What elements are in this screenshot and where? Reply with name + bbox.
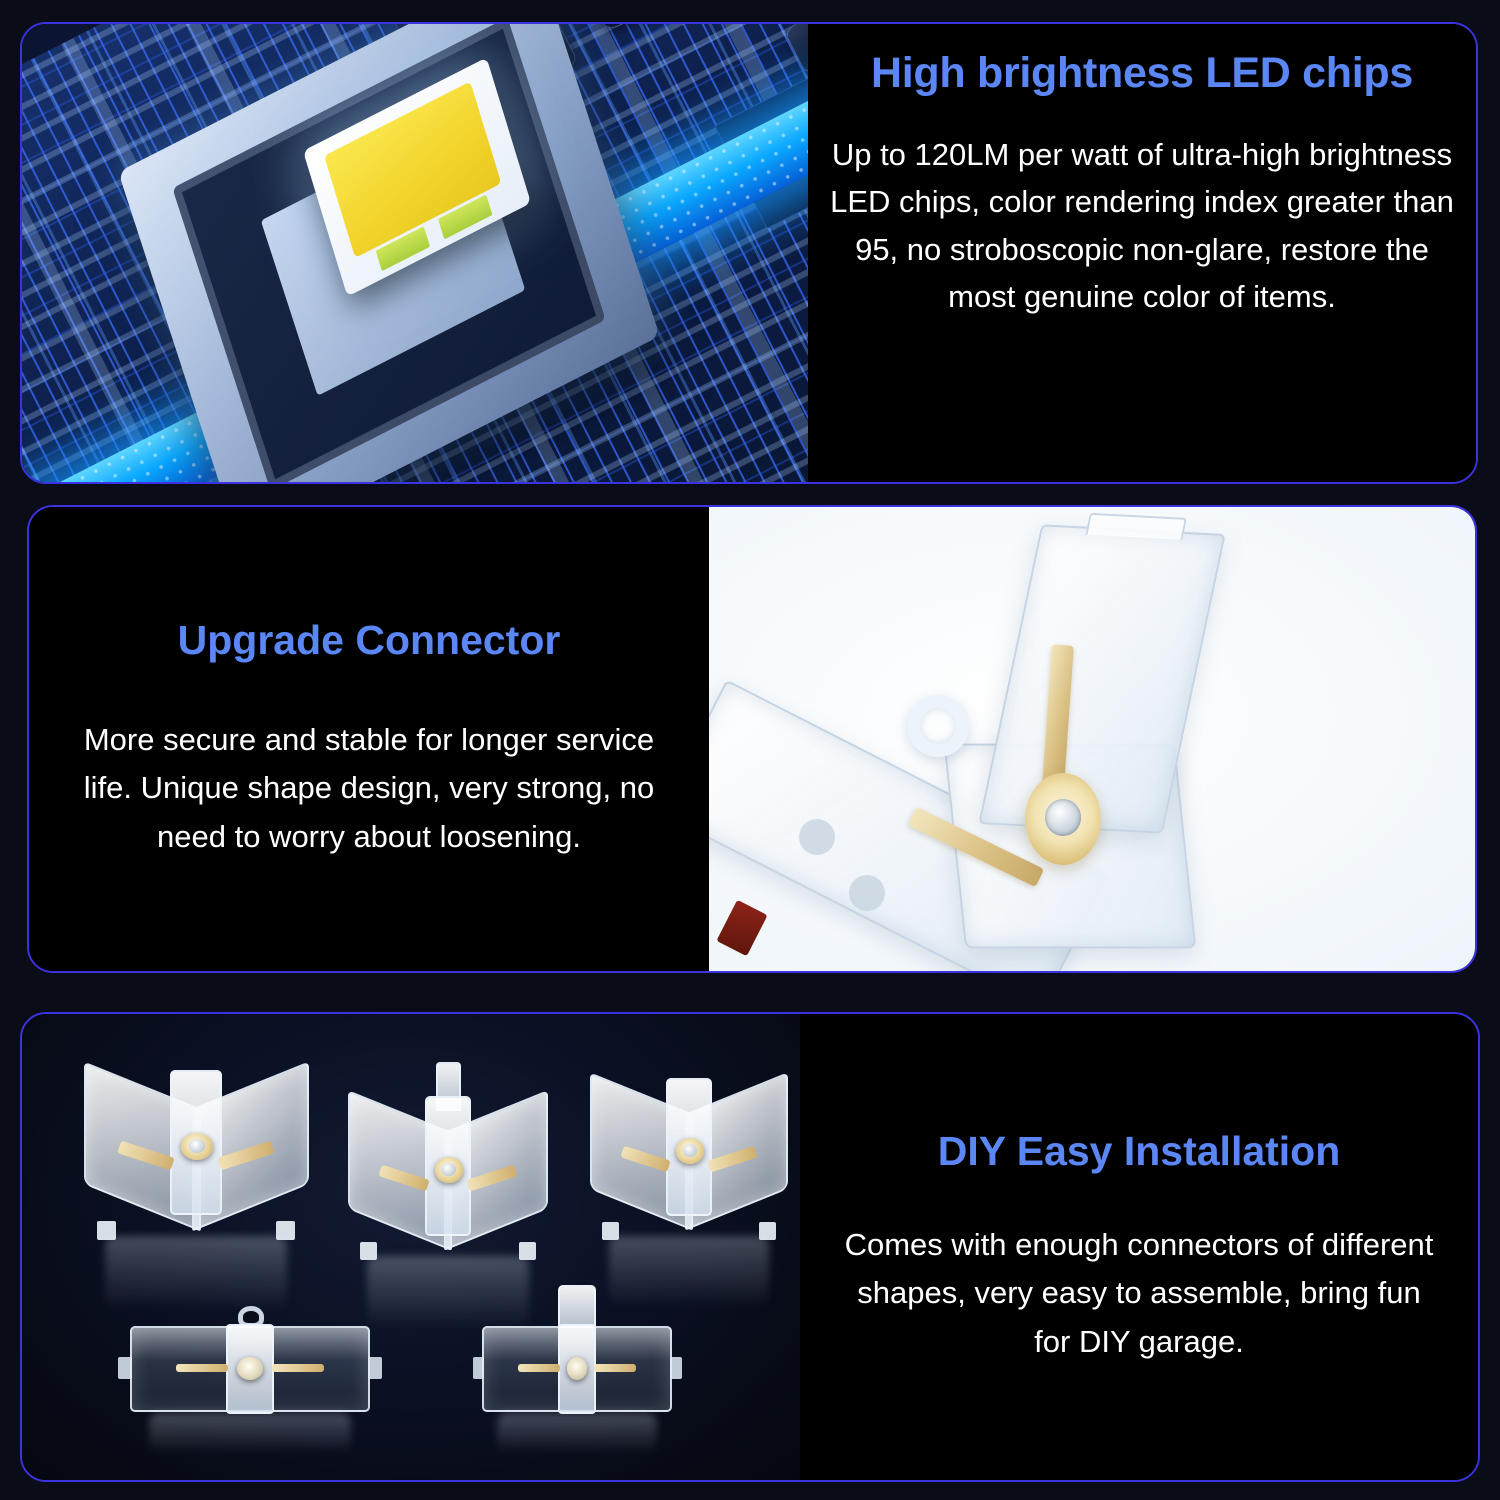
connector-stem xyxy=(558,1285,596,1328)
connector-screw xyxy=(1025,773,1101,865)
connector-screw xyxy=(435,1157,464,1183)
connector-notch xyxy=(368,1357,382,1379)
panel-3-body: Comes with enough connectors of differen… xyxy=(839,1221,1439,1366)
connector-notch xyxy=(473,1357,484,1379)
connector-red-chip xyxy=(716,900,767,956)
connector-brass-pin xyxy=(272,1364,325,1373)
connector-reflection xyxy=(609,1236,769,1308)
connector-screw xyxy=(676,1138,705,1164)
connector-eyelet-ring xyxy=(907,695,969,757)
connector-closeup-image xyxy=(709,507,1475,971)
connector-brass-pin xyxy=(594,1364,636,1373)
connector-notch xyxy=(118,1357,132,1379)
connector-hole xyxy=(799,819,835,855)
connector-upper-arm xyxy=(978,524,1225,833)
connector-screw xyxy=(181,1133,213,1160)
connector-three-way-corner xyxy=(352,1102,544,1254)
connector-reflection xyxy=(105,1236,286,1312)
panel-diy-easy-installation: DIY Easy Installation Comes with enough … xyxy=(20,1012,1480,1482)
connector-hole xyxy=(849,875,885,911)
panel-2-title: Upgrade Connector xyxy=(178,617,561,664)
connector-notch xyxy=(670,1357,681,1379)
led-chip-circuit-board-image xyxy=(22,24,808,482)
connector-straight-inline xyxy=(130,1326,370,1412)
panel-1-title: High brightness LED chips xyxy=(871,50,1413,97)
panel-2-body: More secure and stable for longer servic… xyxy=(74,716,664,861)
infographic-sheet: High brightness LED chips Up to 120LM pe… xyxy=(0,0,1500,1500)
connector-brass-pin xyxy=(518,1364,560,1373)
connector-v-corner-right xyxy=(594,1084,784,1234)
panel-1-body: Up to 120LM per watt of ultra-high brigh… xyxy=(830,131,1454,319)
connector-shapes-image xyxy=(22,1014,800,1480)
panel-3-text-column: DIY Easy Installation Comes with enough … xyxy=(800,1014,1478,1480)
connector-reflection xyxy=(497,1413,657,1454)
connector-brass-pin xyxy=(176,1364,229,1373)
connector-v-corner-left xyxy=(88,1076,304,1234)
connector-t-junction xyxy=(482,1326,672,1412)
connector-reflection xyxy=(149,1413,351,1454)
panel-high-brightness-led-chips: High brightness LED chips Up to 120LM pe… xyxy=(20,22,1478,484)
panel-2-text-column: Upgrade Connector More secure and stable… xyxy=(29,507,709,971)
connector-reflection xyxy=(367,1256,528,1329)
panel-1-text-column: High brightness LED chips Up to 120LM pe… xyxy=(808,24,1476,482)
panel-3-title: DIY Easy Installation xyxy=(938,1128,1341,1175)
panel-upgrade-connector: Upgrade Connector More secure and stable… xyxy=(27,505,1477,973)
